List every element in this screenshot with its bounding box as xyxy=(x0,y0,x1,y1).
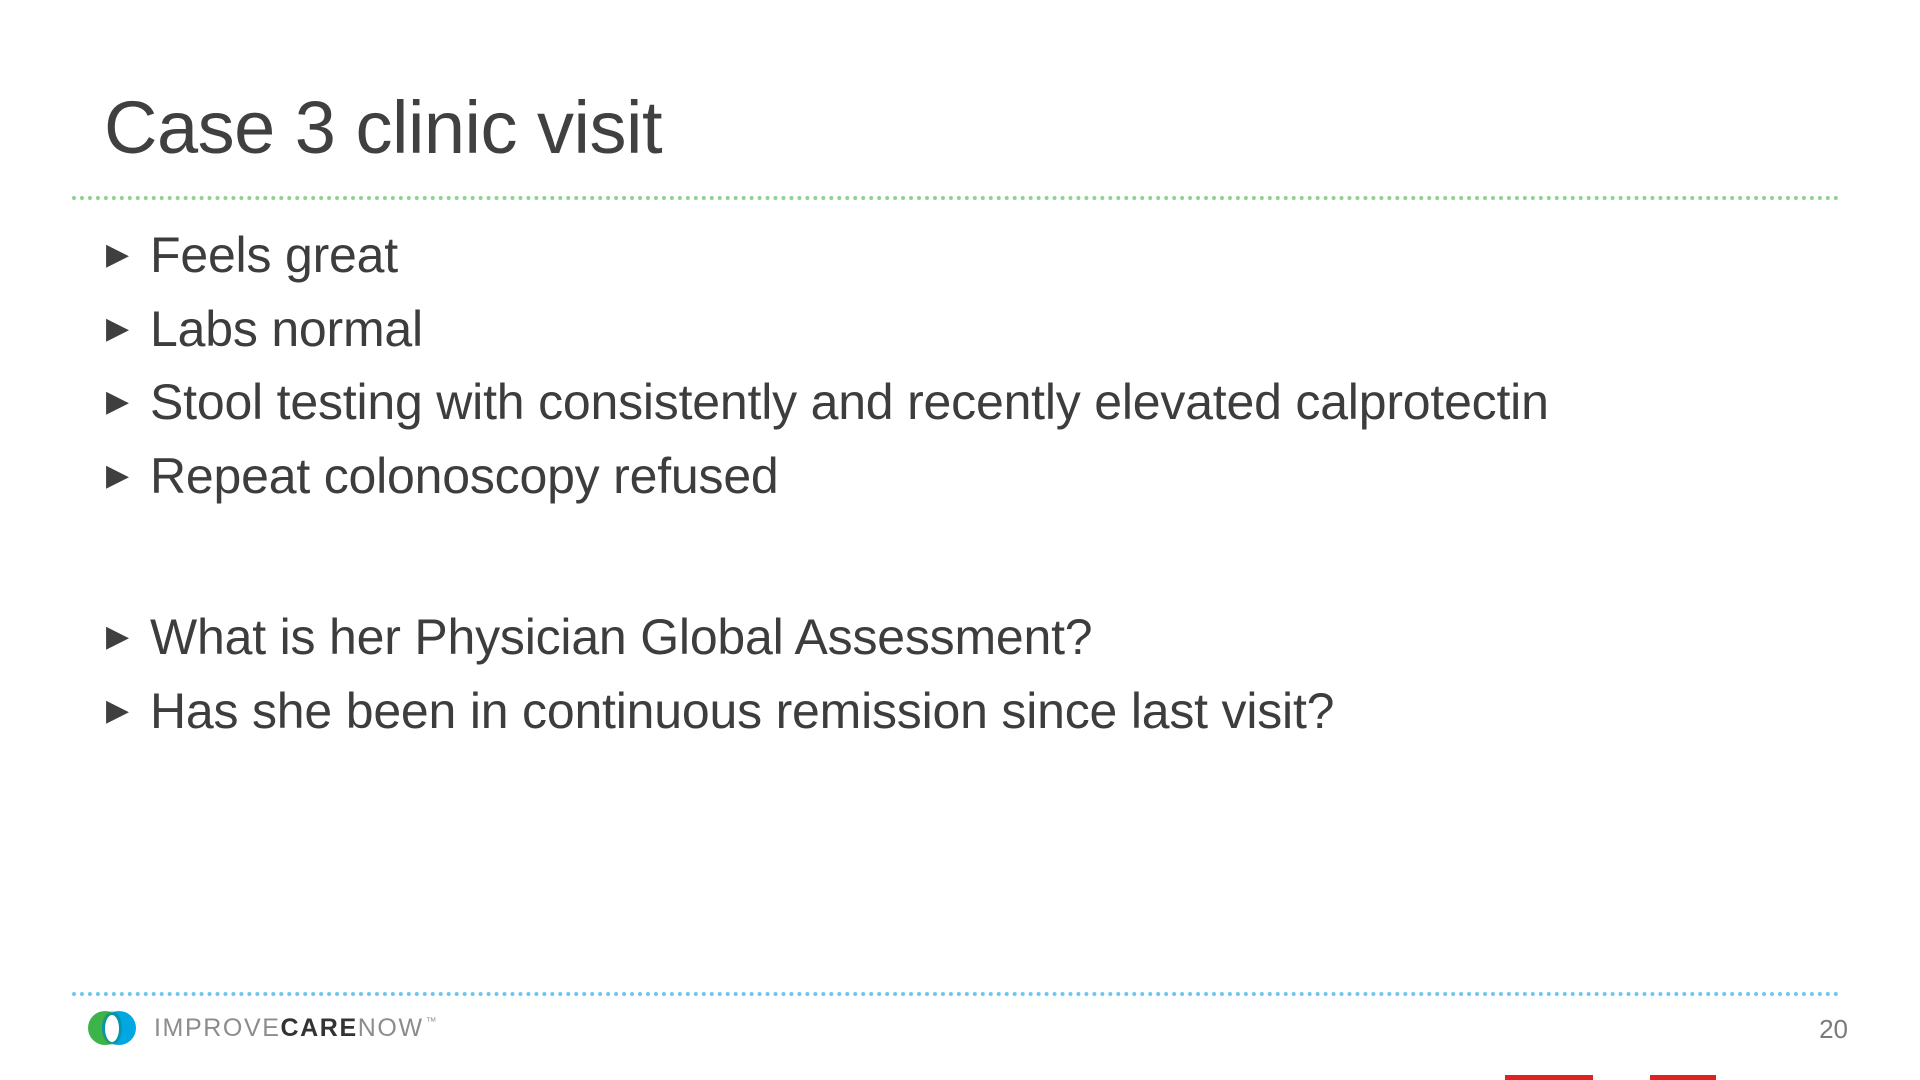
bullet-list: ▶ Feels great ▶ Labs normal ▶ Stool test… xyxy=(98,224,1738,753)
logo-word-improve: IMPROVE xyxy=(154,1016,281,1041)
list-item-spacer: ▶ xyxy=(98,518,1738,606)
slide-canvas: Case 3 clinic visit ▶ Feels great ▶ Labs… xyxy=(0,0,1920,1080)
logo-word-now: NOW xyxy=(358,1016,424,1041)
logo-word-care: CARE xyxy=(281,1016,358,1041)
list-item: ▶ Labs normal xyxy=(98,298,1738,362)
page-number: 20 xyxy=(1768,1014,1848,1045)
trademark-symbol: ™ xyxy=(426,1017,439,1028)
footer-divider-line xyxy=(72,992,1840,996)
triangle-bullet-icon: ▶ xyxy=(98,224,150,286)
triangle-bullet-icon: ▶ xyxy=(98,298,150,360)
bottom-edge-red-strip-right xyxy=(1650,1075,1716,1080)
list-item: ▶ Feels great xyxy=(98,224,1738,288)
list-item-label: Feels great xyxy=(150,224,1550,288)
list-item-label: Repeat colonoscopy refused xyxy=(150,445,1550,509)
title-divider-line xyxy=(72,196,1840,200)
overlapping-circles-logo-icon xyxy=(88,1011,136,1045)
list-item: ▶ Stool testing with consistently and re… xyxy=(98,371,1738,435)
triangle-bullet-icon: ▶ xyxy=(98,445,150,507)
list-item-label: Labs normal xyxy=(150,298,1550,362)
bottom-edge-red-strip-left xyxy=(1505,1075,1593,1080)
logo-wordmark: IMPROVECARENOW™ xyxy=(154,1016,438,1041)
page-title: Case 3 clinic visit xyxy=(104,88,1824,168)
list-item-label: Has she been in continuous remission sin… xyxy=(150,680,1550,744)
list-item-label: What is her Physician Global Assessment? xyxy=(150,606,1550,670)
triangle-bullet-icon: ▶ xyxy=(98,606,150,668)
list-item: ▶ What is her Physician Global Assessmen… xyxy=(98,606,1738,670)
list-item-label: Stool testing with consistently and rece… xyxy=(150,371,1550,435)
triangle-bullet-icon: ▶ xyxy=(98,680,150,742)
triangle-bullet-icon: ▶ xyxy=(98,371,150,433)
list-item: ▶ Has she been in continuous remission s… xyxy=(98,680,1738,744)
list-item: ▶ Repeat colonoscopy refused xyxy=(98,445,1738,509)
improvecarenow-logo: IMPROVECARENOW™ xyxy=(88,1006,438,1050)
